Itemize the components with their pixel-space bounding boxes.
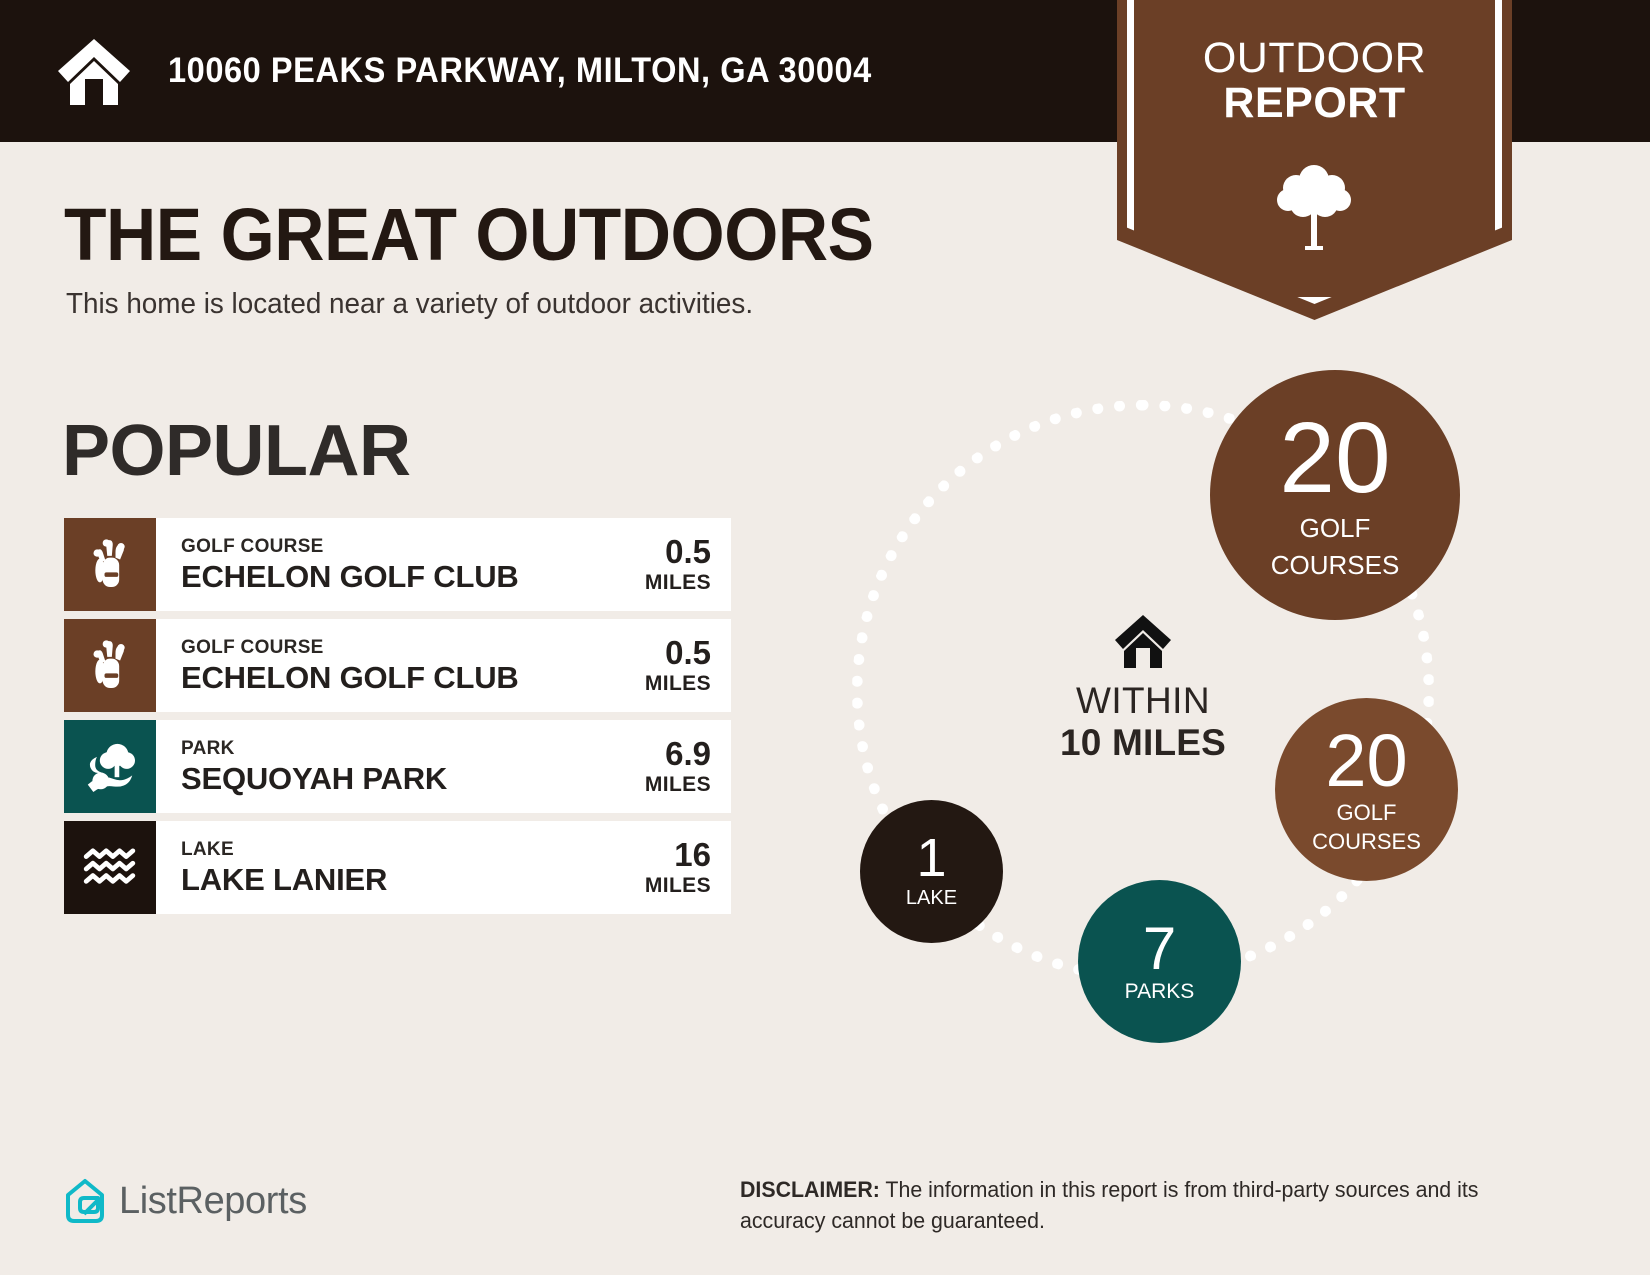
distance-value: 16	[674, 837, 711, 873]
stat-label-line1: LAKE	[906, 888, 957, 910]
park-tree-icon	[84, 742, 136, 792]
page-title: THE GREAT OUTDOORS	[64, 192, 874, 277]
center-label-line2: 10 MILES	[1048, 722, 1238, 763]
list-item-category: GOLF COURSE	[181, 535, 611, 559]
listreports-wordmark: ListReports	[119, 1180, 307, 1223]
stat-label-line2: COURSES	[1271, 551, 1400, 579]
list-item-text: PARK SEQUOYAH PARK	[156, 720, 611, 813]
list-item-name: SEQUOYAH PARK	[181, 761, 611, 797]
golf-bag-icon	[88, 539, 132, 591]
lake-waves-icon-box	[64, 821, 156, 914]
park-tree-icon-box	[64, 720, 156, 813]
distance-unit: MILES	[645, 671, 711, 696]
distance-value: 0.5	[665, 635, 711, 671]
stat-bubble-parks[interactable]: 7 PARKS	[1078, 880, 1241, 1043]
stat-bubble-golf-courses-large[interactable]: 20 GOLF COURSES	[1210, 370, 1460, 620]
list-item-name: ECHELON GOLF CLUB	[181, 660, 611, 696]
golf-bag-icon-box	[64, 518, 156, 611]
list-item-text: GOLF COURSE ECHELON GOLF CLUB	[156, 518, 611, 611]
proximity-diagram: WITHIN 10 MILES 20 GOLF COURSES 20 GOLF …	[830, 360, 1590, 1060]
distance-value: 0.5	[665, 534, 711, 570]
disclaimer: DISCLAIMER: The information in this repo…	[740, 1174, 1526, 1236]
stat-label-line2: COURSES	[1312, 830, 1421, 854]
list-item[interactable]: LAKE LAKE LANIER 16 MILES	[64, 821, 731, 914]
section-title-popular: POPULAR	[62, 410, 411, 492]
stat-bubble-golf-courses-small[interactable]: 20 GOLF COURSES	[1275, 698, 1458, 881]
popular-places-list: GOLF COURSE ECHELON GOLF CLUB 0.5 MILES	[64, 518, 731, 922]
lake-waves-icon	[83, 848, 137, 888]
property-address: 10060 PEAKS PARKWAY, MILTON, GA 30004	[168, 51, 872, 91]
badge-text-group: OUTDOOR REPORT	[1117, 36, 1512, 125]
list-item-category: PARK	[181, 737, 611, 761]
list-item-category: LAKE	[181, 838, 611, 862]
stat-value: 20	[1325, 726, 1407, 796]
golf-bag-icon	[88, 640, 132, 692]
list-item-text: GOLF COURSE ECHELON GOLF CLUB	[156, 619, 611, 712]
stat-bubble-lake[interactable]: 1 LAKE	[860, 800, 1003, 943]
list-item-category: GOLF COURSE	[181, 636, 611, 660]
home-icon	[56, 35, 132, 107]
listreports-house-icon	[64, 1178, 106, 1224]
list-item-distance: 0.5 MILES	[611, 518, 731, 611]
listreports-logo[interactable]: ListReports	[64, 1178, 307, 1224]
list-item[interactable]: PARK SEQUOYAH PARK 6.9 MILES	[64, 720, 731, 813]
badge-title-line2: REPORT	[1117, 81, 1512, 126]
list-item-text: LAKE LAKE LANIER	[156, 821, 611, 914]
tree-icon	[1272, 160, 1356, 250]
center-label-line1: WITHIN	[1048, 681, 1238, 722]
list-item-distance: 16 MILES	[611, 821, 731, 914]
distance-unit: MILES	[645, 570, 711, 595]
badge-title-line1: OUTDOOR	[1117, 36, 1512, 81]
distance-value: 6.9	[665, 736, 711, 772]
outdoor-report-infographic: 10060 PEAKS PARKWAY, MILTON, GA 30004 OU…	[0, 0, 1650, 1275]
stat-label-line1: PARKS	[1125, 981, 1195, 1004]
list-item[interactable]: GOLF COURSE ECHELON GOLF CLUB 0.5 MILES	[64, 518, 731, 611]
diagram-center: WITHIN 10 MILES	[1048, 612, 1238, 763]
list-item-distance: 0.5 MILES	[611, 619, 731, 712]
stat-label-line1: GOLF	[1337, 801, 1397, 825]
stat-value: 20	[1279, 411, 1390, 506]
stat-label-line1: GOLF	[1300, 514, 1371, 542]
home-icon	[1113, 612, 1173, 670]
list-item-name: ECHELON GOLF CLUB	[181, 559, 611, 595]
page-subtitle: This home is located near a variety of o…	[66, 288, 753, 321]
list-item[interactable]: GOLF COURSE ECHELON GOLF CLUB 0.5 MILES	[64, 619, 731, 712]
disclaimer-label: DISCLAIMER:	[740, 1177, 880, 1202]
stat-value: 1	[916, 833, 946, 884]
list-item-name: LAKE LANIER	[181, 862, 611, 898]
stat-value: 7	[1143, 920, 1176, 977]
list-item-distance: 6.9 MILES	[611, 720, 731, 813]
golf-bag-icon-box	[64, 619, 156, 712]
distance-unit: MILES	[645, 873, 711, 898]
distance-unit: MILES	[645, 772, 711, 797]
